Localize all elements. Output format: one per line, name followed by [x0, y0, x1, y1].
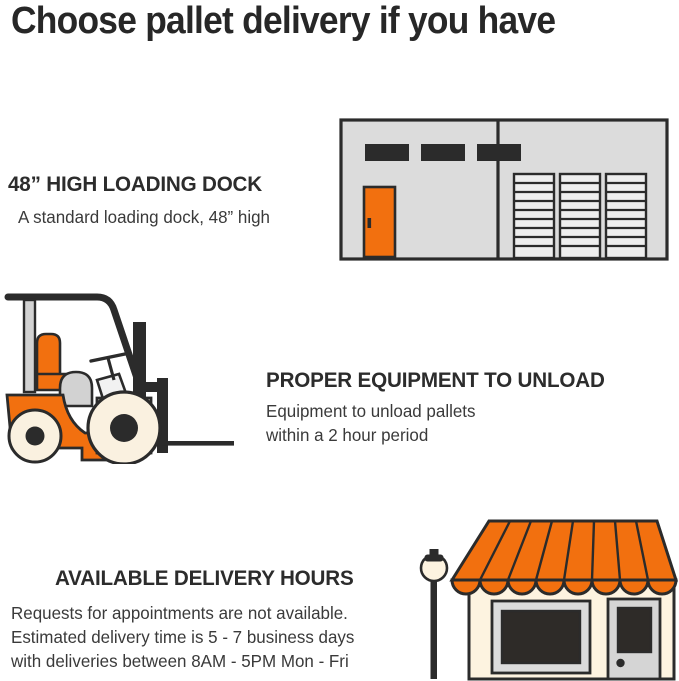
- body-line: A standard loading dock, 48” high: [18, 205, 270, 229]
- forklift-rear-wheel-icon: [9, 410, 61, 462]
- forklift-front-wheel-icon: [88, 392, 160, 464]
- warehouse-window-icon: [477, 144, 521, 161]
- door-handle-icon: [368, 218, 372, 228]
- dock-door-icon: [606, 174, 646, 258]
- dock-door-icon: [514, 174, 554, 258]
- section-body-loading-dock: A standard loading dock, 48” high: [18, 205, 270, 229]
- page-title: Choose pallet delivery if you have: [11, 0, 625, 44]
- street-lamp-icon: [421, 549, 447, 679]
- mast-crossbar-icon: [133, 382, 168, 392]
- body-line: Requests for appointments are not availa…: [11, 601, 354, 625]
- section-body-proper-equipment: Equipment to unload pallets within a 2 h…: [266, 399, 476, 447]
- seat-back-icon: [37, 334, 60, 379]
- body-line: with deliveries between 8AM - 5PM Mon - …: [11, 649, 354, 673]
- section-body-delivery-hours: Requests for appointments are not availa…: [11, 601, 354, 673]
- warehouse-window-icon: [421, 144, 465, 161]
- store-door-icon: [608, 599, 660, 679]
- dock-door-icon: [560, 174, 600, 258]
- warehouse-window-icon: [365, 144, 409, 161]
- door-knob-icon: [616, 659, 624, 667]
- storefront-icon: [412, 498, 679, 681]
- body-line: Estimated delivery time is 5 - 7 busines…: [11, 625, 354, 649]
- section-heading-loading-dock: 48” HIGH LOADING DOCK: [8, 172, 262, 197]
- section-heading-proper-equipment: PROPER EQUIPMENT TO UNLOAD: [266, 368, 605, 393]
- forklift-icon: [2, 288, 238, 464]
- body-line: Equipment to unload pallets: [266, 399, 476, 423]
- warehouse-icon: [339, 118, 669, 263]
- store-window-icon: [492, 601, 590, 673]
- body-line: within a 2 hour period: [266, 423, 476, 447]
- section-heading-delivery-hours: AVAILABLE DELIVERY HOURS: [55, 566, 354, 591]
- fork-tine-icon: [162, 441, 234, 446]
